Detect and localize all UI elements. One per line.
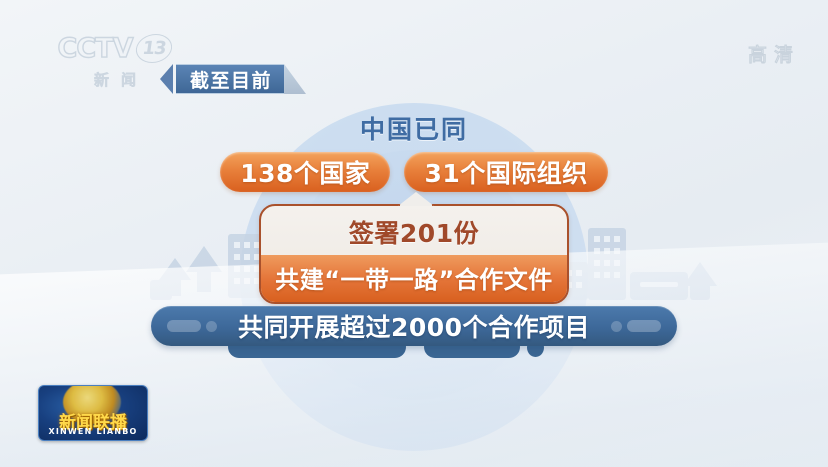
program-logo-name-en: XINWEN LIANBO [39, 427, 147, 436]
agreement-callout: 签署201份 共建“一带一路”合作文件 [259, 204, 569, 304]
page-title: 中国已同 [0, 110, 828, 146]
callout-title: 签署201份 [261, 206, 567, 255]
cctv-channel-watermark: CCTV 13 新闻 [55, 34, 175, 90]
callout-box: 签署201份 共建“一带一路”合作文件 [259, 204, 569, 304]
timestamp-banner: 截至目前 [160, 64, 306, 94]
statistic-pill-row: 138个国家 31个国际组织 [0, 152, 828, 192]
statistic-pill-countries: 138个国家 [220, 152, 390, 192]
statistic-pill-organizations: 31个国际组织 [404, 152, 607, 192]
decoration-dot-icon [611, 321, 622, 332]
decoration-dash-icon [627, 320, 661, 332]
left-chevron-icon [160, 64, 173, 94]
projects-bar: 共同开展超过2000个合作项目 [151, 306, 677, 346]
decoration-dot-icon [206, 321, 217, 332]
cctv-channel-sub: 新闻 [55, 69, 175, 90]
program-logo: 新闻联播 XINWEN LIANBO [38, 385, 148, 441]
broadcast-screen: CCTV 13 新闻 高清 截至目前 中国已同 138个国家 31个国际组织 签… [0, 0, 828, 467]
projects-bar-label: 共同开展超过2000个合作项目 [238, 308, 590, 344]
hd-quality-watermark: 高清 [748, 40, 800, 67]
banner-tail-shape [284, 64, 306, 94]
projects-bar-left-decoration [167, 320, 217, 332]
callout-subtitle: 共建“一带一路”合作文件 [261, 255, 567, 302]
cctv-channel-number: 13 [134, 34, 174, 63]
timestamp-banner-label: 截至目前 [176, 64, 284, 94]
cctv-wordmark: CCTV [58, 35, 133, 62]
decoration-dash-icon [167, 320, 201, 332]
projects-bar-right-decoration [611, 320, 661, 332]
